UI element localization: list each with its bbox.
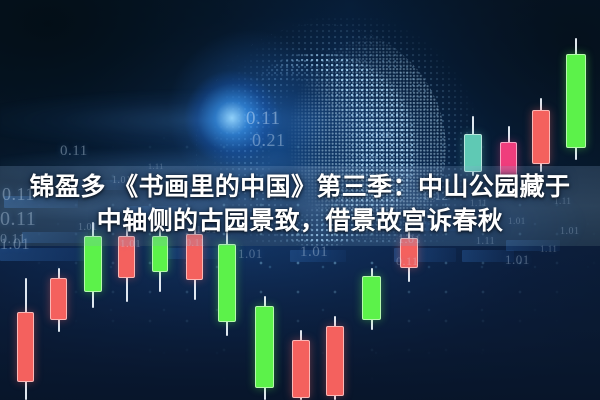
numeric-readout: 0.21 [252,130,286,151]
numeric-readout: 1.11 [362,154,378,163]
numeric-readout: 1.01 [238,246,263,262]
candlestick-down [326,316,344,400]
candle-body [362,276,381,320]
numeric-readout: 1.01 [300,244,328,261]
numeric-readout: 1.01 [505,252,530,268]
numeric-readout: 0.11 [60,143,88,160]
candle-body [255,306,274,388]
candle-body [17,312,34,382]
title-line-2: 中轴侧的古园景致，借景故宫诉春秋 [0,204,600,238]
candlestick-down [292,330,310,400]
candle-body [218,244,236,322]
candlestick-down [17,278,34,400]
candlestick-down [532,98,550,172]
candle-body [532,110,550,164]
numeric-readout: 0.11 [246,108,281,130]
candle-body [50,278,67,320]
numeric-readout: 1.11 [374,130,391,140]
candlestick-up [566,38,586,160]
banner-image: 0.110.211.111.110.111.011.010.111.011.11… [0,0,600,400]
candlestick-up [255,296,274,400]
candle-body [326,326,344,396]
title-line-1: 锦盈多 《书画里的中国》第三季：中山公园藏于 [0,170,600,204]
candle-body [566,54,586,148]
candlestick-down [50,268,67,332]
page-title: 锦盈多 《书画里的中国》第三季：中山公园藏于 中轴侧的古园景致，借景故宫诉春秋 [0,170,600,238]
numeric-readout: 0.11 [396,254,419,269]
candlestick-up [362,268,381,330]
candle-body [292,340,310,398]
